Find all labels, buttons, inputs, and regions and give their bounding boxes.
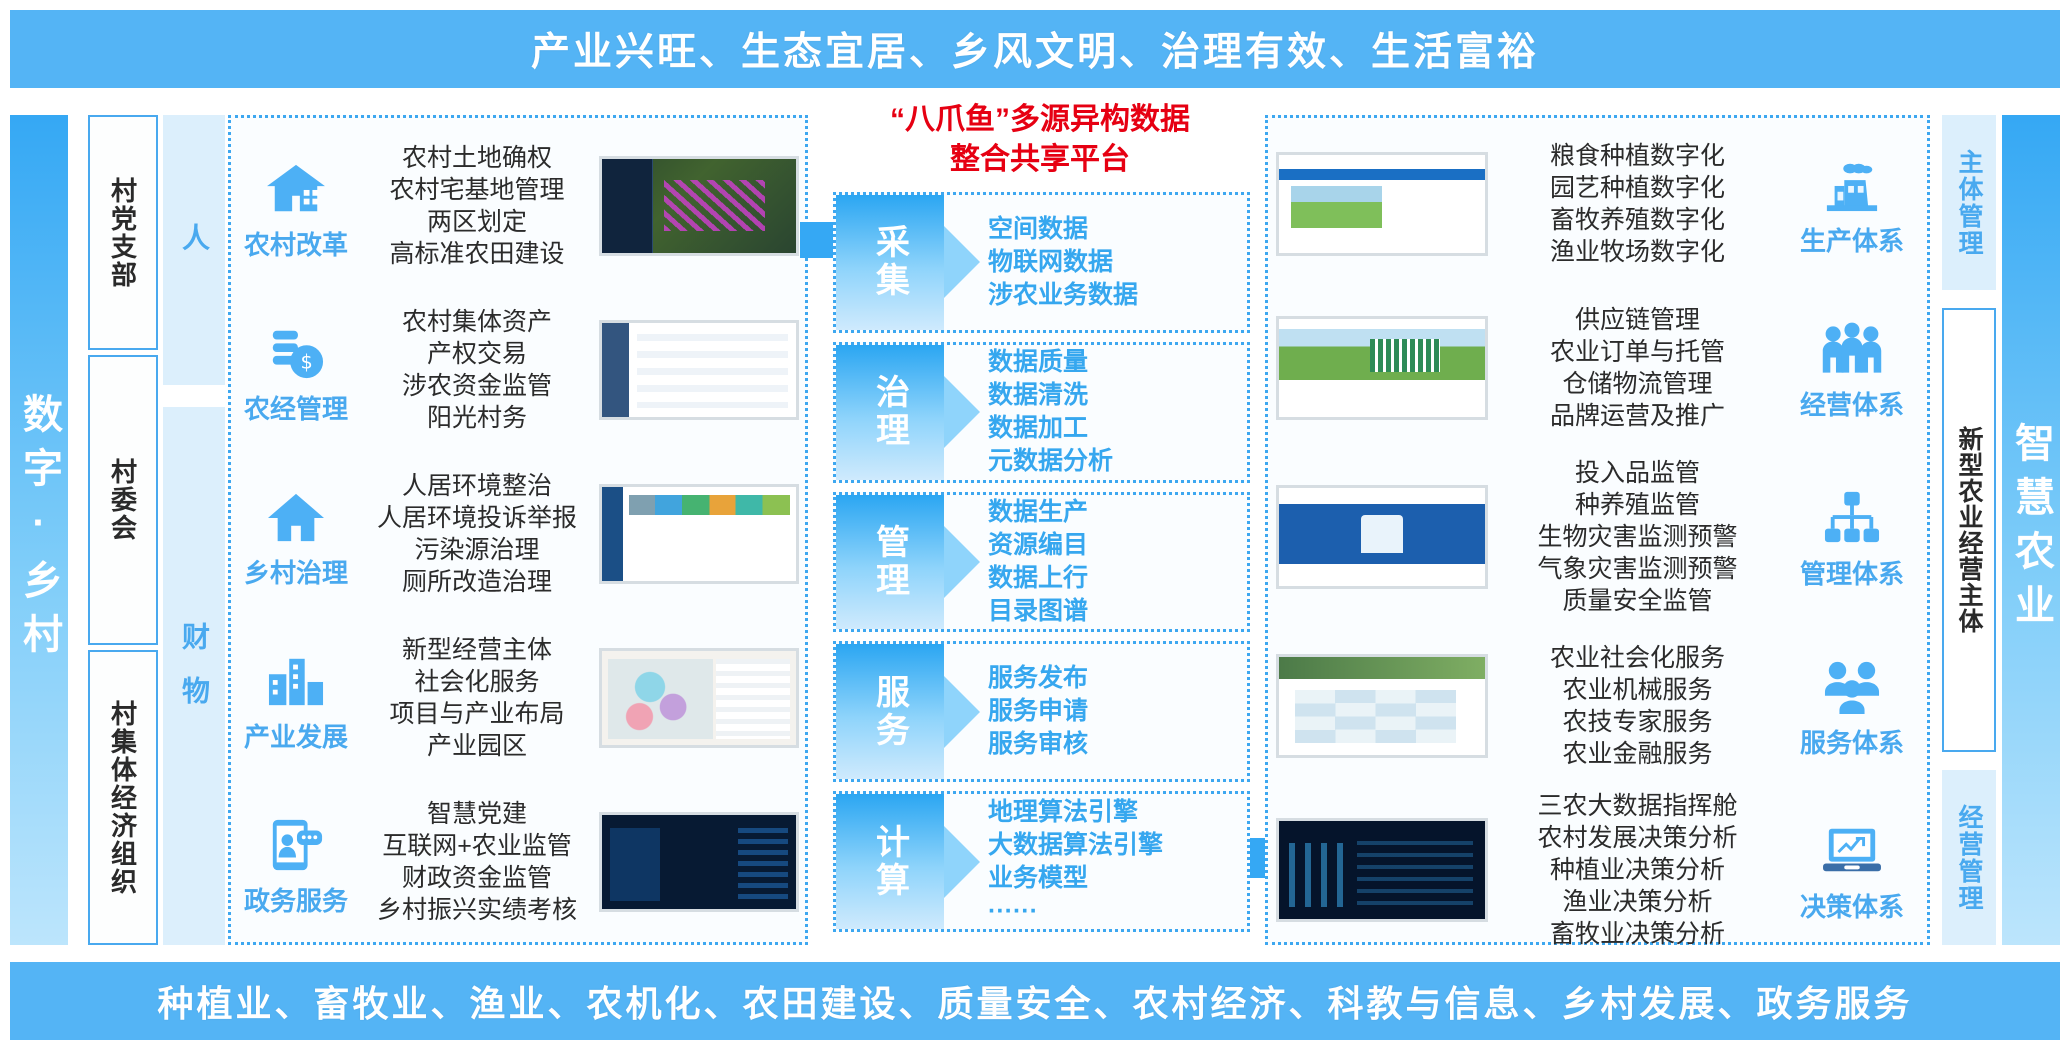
management-box-new-agri-subject[interactable]: 新型农业经营主体 — [1942, 308, 1996, 752]
module-text: 农村土地确权 农村宅基地管理 两区划定 高标准农田建设 — [361, 142, 599, 270]
management-box-subject: 主体管理 — [1942, 115, 1996, 290]
module-screenshot-governance[interactable] — [599, 484, 799, 584]
step-name: 服务 — [866, 674, 915, 750]
system-screenshot-service-portal[interactable] — [1276, 654, 1488, 758]
svg-text:$: $ — [300, 350, 312, 373]
management-box-operation: 经营管理 — [1942, 770, 1996, 945]
step-name: 治理 — [866, 374, 915, 450]
laptop-chart-icon — [1821, 817, 1883, 879]
org-structure-column: 村党支部 村委会 村集体经济组织 — [88, 115, 158, 945]
module-row-rural-reform[interactable]: 农村改革 农村土地确权 农村宅基地管理 两区划定 高标准农田建设 — [231, 126, 805, 286]
org-box-label: 村集体经济组织 — [105, 700, 142, 896]
module-row-rural-economy[interactable]: $ 农经管理 农村集体资产 产权交易 涉农资金监管 阳光村务 — [231, 290, 805, 450]
system-icon-label: 经营体系 — [1800, 385, 1904, 422]
platform-step-compute[interactable]: 计算 地理算法引擎 大数据算法引擎 业务模型 ······ — [833, 791, 1250, 932]
platform-title: “八爪鱼”多源异构数据 整合共享平台 — [820, 100, 1260, 180]
system-row-operation[interactable]: 供应链管理 农业订单与托管 仓储物流管理 品牌运营及推广 经营体系 — [1268, 288, 1927, 448]
platform-step-manage[interactable]: 管理 数据生产 资源编目 数据上行 目录图谱 — [833, 492, 1250, 633]
coins-dollar-icon: $ — [265, 315, 327, 381]
org-tree-icon — [1821, 484, 1883, 546]
bottom-banner: 种植业、畜牧业、渔业、农机化、农田建设、质量安全、农村经济、科教与信息、乡村发展… — [10, 962, 2060, 1040]
org-box-label: 村党支部 — [105, 177, 142, 289]
system-text: 供应链管理 农业订单与托管 仓储物流管理 品牌运营及推广 — [1498, 304, 1777, 432]
right-rail-label: 智慧农业 — [2002, 422, 2060, 638]
system-row-decision[interactable]: 三农大数据指挥舱 农村发展决策分析 种植业决策分析 渔业决策分析 畜牧业决策分析… — [1268, 790, 1927, 950]
management-label: 新型农业经营主体 — [1951, 426, 1987, 634]
step-chevron: 治理 — [836, 345, 944, 480]
step-items: 数据生产 资源编目 数据上行 目录图谱 — [944, 495, 1247, 630]
system-row-production[interactable]: 粮食种植数字化 园艺种植数字化 畜牧养殖数字化 渔业牧场数字化 生产体系 — [1268, 124, 1927, 284]
resource-box-people: 人 — [163, 115, 225, 385]
village-modules-panel: 农村改革 农村土地确权 农村宅基地管理 两区划定 高标准农田建设 $ 农经管理 … — [228, 115, 808, 945]
module-text: 智慧党建 互联网+农业监管 财政资金监管 乡村振兴实绩考核 — [361, 798, 599, 926]
system-icon-group: 经营体系 — [1777, 315, 1927, 422]
step-items: 地理算法引擎 大数据算法引擎 业务模型 ······ — [944, 794, 1247, 929]
people-group-icon — [1819, 315, 1885, 377]
system-icon-group: 管理体系 — [1777, 484, 1927, 591]
system-screenshot-mall[interactable] — [1276, 316, 1488, 420]
home-roof-icon — [265, 479, 327, 545]
resource-label: 人 — [174, 223, 214, 277]
module-icon-label: 农经管理 — [244, 389, 348, 426]
system-icon-group: 生产体系 — [1777, 151, 1927, 258]
system-screenshot-cockpit[interactable] — [1276, 818, 1488, 922]
house-icon — [265, 151, 327, 217]
management-label: 主体管理 — [1951, 149, 1987, 257]
platform-steps: 采集 空间数据 物联网数据 涉农业务数据 治理 数据质量 数据清洗 数据加工 元… — [833, 192, 1250, 932]
system-icon-group: 决策体系 — [1777, 817, 1927, 924]
module-text: 人居环境整治 人居环境投诉举报 污染源治理 厕所改造治理 — [361, 470, 599, 598]
org-box-village-committee[interactable]: 村委会 — [88, 355, 158, 645]
module-icon-group: $ 农经管理 — [231, 315, 361, 426]
right-rail-smart-agriculture: 智慧农业 — [2002, 115, 2060, 945]
module-row-industry-development[interactable]: 产业发展 新型经营主体 社会化服务 项目与产业布局 产业园区 — [231, 618, 805, 778]
module-icon-label: 政务服务 — [244, 881, 348, 918]
module-row-rural-governance[interactable]: 乡村治理 人居环境整治 人居环境投诉举报 污染源治理 厕所改造治理 — [231, 454, 805, 614]
system-row-service[interactable]: 农业社会化服务 农业机械服务 农技专家服务 农业金融服务 服务体系 — [1268, 626, 1927, 786]
module-row-government-service[interactable]: 政务服务 智慧党建 互联网+农业监管 财政资金监管 乡村振兴实绩考核 — [231, 782, 805, 942]
step-chevron: 管理 — [836, 495, 944, 630]
management-column: 主体管理 新型农业经营主体 经营管理 — [1942, 115, 1996, 945]
step-items: 数据质量 数据清洗 数据加工 元数据分析 — [944, 345, 1247, 480]
module-screenshot-gis[interactable] — [599, 156, 799, 256]
module-screenshot-finance[interactable] — [599, 320, 799, 420]
step-name: 管理 — [866, 524, 915, 600]
org-box-label: 村委会 — [105, 458, 142, 542]
system-text: 粮食种植数字化 园艺种植数字化 畜牧养殖数字化 渔业牧场数字化 — [1498, 140, 1777, 268]
module-text: 新型经营主体 社会化服务 项目与产业布局 产业园区 — [361, 634, 599, 762]
module-icon-group: 政务服务 — [231, 807, 361, 918]
top-banner-text: 产业兴旺、生态宜居、乡风文明、治理有效、生活富裕 — [531, 21, 1539, 77]
step-name: 计算 — [866, 824, 915, 900]
module-icon-group: 农村改革 — [231, 151, 361, 262]
system-screenshot-portal[interactable] — [1276, 152, 1488, 256]
system-text: 农业社会化服务 农业机械服务 农技专家服务 农业金融服务 — [1498, 642, 1777, 770]
top-banner: 产业兴旺、生态宜居、乡风文明、治理有效、生活富裕 — [10, 10, 2060, 88]
module-icon-group: 产业发展 — [231, 643, 361, 754]
management-label: 经营管理 — [1951, 804, 1987, 912]
step-items: 服务发布 服务申请 服务审核 — [944, 644, 1247, 779]
three-people-icon — [1821, 653, 1883, 715]
connector-left — [800, 222, 834, 258]
system-text: 投入品监管 种养殖监管 生物灾害监测预警 气象灾害监测预警 质量安全监管 — [1498, 457, 1777, 617]
left-rail-digital-village: 数字·乡村 — [10, 115, 68, 945]
module-screenshot-industry-map[interactable] — [599, 648, 799, 748]
system-row-management[interactable]: 投入品监管 种养殖监管 生物灾害监测预警 气象灾害监测预警 质量安全监管 管理体… — [1268, 452, 1927, 622]
module-icon-label: 乡村治理 — [244, 553, 348, 590]
bottom-banner-text: 种植业、畜牧业、渔业、农机化、农田建设、质量安全、农村经济、科教与信息、乡村发展… — [157, 975, 1912, 1027]
module-icon-label: 产业发展 — [244, 717, 348, 754]
left-rail-label: 数字·乡村 — [10, 393, 68, 667]
system-icon-label: 服务体系 — [1800, 723, 1904, 760]
system-icon-label: 决策体系 — [1800, 887, 1904, 924]
system-icon-group: 服务体系 — [1777, 653, 1927, 760]
system-icon-label: 生产体系 — [1800, 221, 1904, 258]
buildings-icon — [265, 643, 327, 709]
platform-step-govern[interactable]: 治理 数据质量 数据清洗 数据加工 元数据分析 — [833, 342, 1250, 483]
module-icon-label: 农村改革 — [244, 225, 348, 262]
module-icon-group: 乡村治理 — [231, 479, 361, 590]
factory-icon — [1821, 151, 1883, 213]
module-text: 农村集体资产 产权交易 涉农资金监管 阳光村务 — [361, 306, 599, 434]
step-chevron: 计算 — [836, 794, 944, 929]
step-name: 采集 — [866, 224, 915, 300]
platform-step-service[interactable]: 服务 服务发布 服务申请 服务审核 — [833, 641, 1250, 782]
mobile-service-icon — [265, 807, 327, 873]
step-chevron: 采集 — [836, 195, 944, 330]
module-screenshot-party-affairs[interactable] — [599, 812, 799, 912]
step-items: 空间数据 物联网数据 涉农业务数据 — [944, 195, 1247, 330]
system-text: 三农大数据指挥舱 农村发展决策分析 种植业决策分析 渔业决策分析 畜牧业决策分析 — [1498, 790, 1777, 950]
platform-step-collect[interactable]: 采集 空间数据 物联网数据 涉农业务数据 — [833, 192, 1250, 333]
org-box-party-branch[interactable]: 村党支部 — [88, 115, 158, 350]
system-screenshot-food-safety[interactable] — [1276, 485, 1488, 589]
step-chevron: 服务 — [836, 644, 944, 779]
org-box-collective-economy[interactable]: 村集体经济组织 — [88, 650, 158, 945]
resource-label: 财物 — [174, 622, 214, 730]
smart-agriculture-panel: 粮食种植数字化 园艺种植数字化 畜牧养殖数字化 渔业牧场数字化 生产体系 供应链… — [1265, 115, 1930, 945]
resource-box-assets: 财物 — [163, 407, 225, 945]
system-icon-label: 管理体系 — [1800, 554, 1904, 591]
resource-column: 人 财物 — [163, 115, 225, 945]
